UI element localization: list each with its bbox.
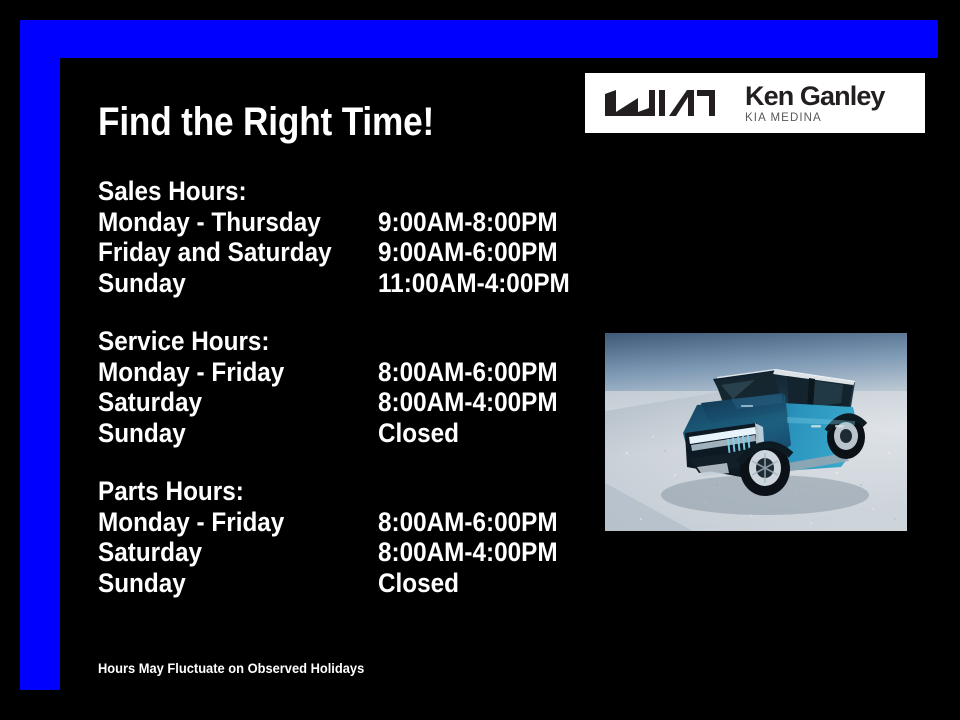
row-day-label: Monday - Thursday [98,207,350,238]
page-title: Find the Right Time! [98,100,434,144]
kia-logo-icon [599,86,721,120]
blue-border-frame: Find the Right Time! Sales Hours: Monday… [20,20,938,690]
disclaimer-text: Hours May Fluctuate on Observed Holidays [98,660,364,677]
row-time-value: 11:00AM-4:00PM [378,268,572,299]
table-row: Friday and Saturday 9:00AM-6:00PM [98,237,598,268]
row-time-value: 9:00AM-6:00PM [378,237,572,268]
dealer-name-block: Ken Ganley KIA MEDINA [745,82,885,125]
hours-group-service: Service Hours: Monday - Friday 8:00AM-6:… [98,326,598,448]
hours-list: Sales Hours: Monday - Thursday 9:00AM-8:… [98,176,598,598]
group-heading: Sales Hours: [98,176,548,207]
table-row: Saturday 8:00AM-4:00PM [98,387,598,418]
row-day-label: Sunday [98,568,350,599]
hours-group-parts: Parts Hours: Monday - Friday 8:00AM-6:00… [98,476,598,598]
dealer-name: Ken Ganley [745,82,885,110]
row-day-label: Friday and Saturday [98,237,350,268]
row-day-label: Saturday [98,537,350,568]
row-time-value: 9:00AM-8:00PM [378,207,572,238]
dealer-subtitle: KIA MEDINA [745,111,885,125]
row-time-value: Closed [378,418,572,449]
table-row: Monday - Thursday 9:00AM-8:00PM [98,207,598,238]
row-day-label: Monday - Friday [98,507,350,538]
slide-content-area: Find the Right Time! Sales Hours: Monday… [60,58,938,692]
slide-canvas: Find the Right Time! Sales Hours: Monday… [0,0,960,720]
row-time-value: 8:00AM-6:00PM [378,357,572,388]
table-row: Sunday Closed [98,568,598,599]
dealer-logo-panel: Ken Ganley KIA MEDINA [585,73,925,133]
hours-group-sales: Sales Hours: Monday - Thursday 9:00AM-8:… [98,176,598,298]
table-row: Sunday Closed [98,418,598,449]
table-row: Sunday 11:00AM-4:00PM [98,268,598,299]
table-row: Saturday 8:00AM-4:00PM [98,537,598,568]
vehicle-photo [605,333,907,531]
table-row: Monday - Friday 8:00AM-6:00PM [98,357,598,388]
table-row: Monday - Friday 8:00AM-6:00PM [98,507,598,538]
row-day-label: Sunday [98,418,350,449]
row-time-value: Closed [378,568,572,599]
row-day-label: Saturday [98,387,350,418]
row-time-value: 8:00AM-4:00PM [378,387,572,418]
group-heading: Service Hours: [98,326,548,357]
row-day-label: Sunday [98,268,350,299]
row-time-value: 8:00AM-4:00PM [378,537,572,568]
row-time-value: 8:00AM-6:00PM [378,507,572,538]
group-heading: Parts Hours: [98,476,548,507]
row-day-label: Monday - Friday [98,357,350,388]
